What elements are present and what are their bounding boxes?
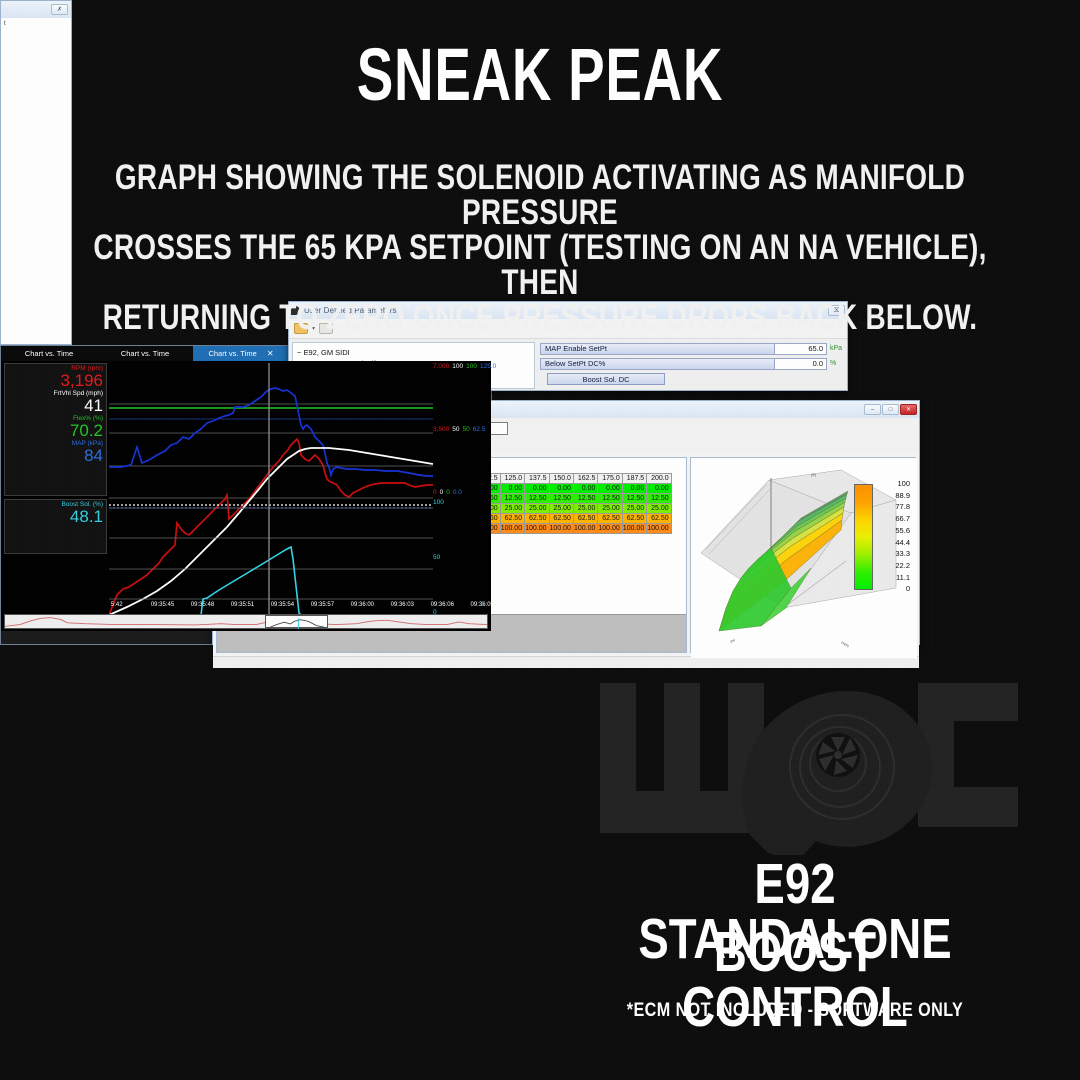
table-cell[interactable]: 25.00	[549, 504, 573, 514]
table-cell[interactable]: 12.50	[549, 494, 573, 504]
gauge-column: RPM (rpm) 3,196 FrtVhl Spd (mph) 41 Flex…	[4, 363, 107, 554]
parameter-unit: %	[827, 358, 843, 370]
axis-scale-top: 7,000100100125.0	[433, 363, 488, 371]
column-header[interactable]: 175.0	[598, 474, 622, 484]
tab-label: Chart vs. Time	[121, 349, 169, 358]
parameter-value-input[interactable]: 65.0	[775, 343, 827, 355]
column-header[interactable]: 200.0	[647, 474, 671, 484]
gauge-value-frtvhl-spd: 41	[8, 397, 103, 415]
gauge-group-upper: RPM (rpm) 3,196 FrtVhl Spd (mph) 41 Flex…	[4, 363, 107, 496]
time-tick-label: 09:35:45	[151, 602, 174, 608]
axis-scale-bottom: 0000.0	[433, 489, 488, 497]
chart-time-axis: 5:4209:35:4509:35:4809:35:5109:35:5409:3…	[109, 602, 486, 613]
axis-label-top: (%)	[811, 473, 816, 477]
axis-scale-value: 50	[452, 426, 459, 433]
table-cell[interactable]: 62.50	[525, 514, 549, 524]
axis-scale-value: 100	[452, 363, 463, 370]
background-window-content: t	[1, 18, 71, 27]
time-tick-label: 09:35:48	[191, 602, 214, 608]
subheading-line-1: GRAPH SHOWING THE SOLENOID ACTIVATING AS…	[68, 160, 1012, 230]
table-cell[interactable]: 62.50	[622, 514, 646, 524]
table-cell[interactable]: 0.00	[647, 484, 671, 494]
gauge-value-boost-sol: 48.1	[8, 508, 103, 526]
subheading-line-2: CROSSES THE 65 KPA SETPOINT (TESTING ON …	[68, 230, 1012, 300]
table-cell[interactable]: 25.00	[500, 504, 524, 514]
time-tick-label: 5:42	[111, 602, 123, 608]
tab-label: Chart vs. Time	[25, 349, 73, 358]
table-cell[interactable]: 100.00	[622, 524, 646, 534]
axis-scale-value: 50	[433, 554, 488, 561]
table-cell[interactable]: 100.00	[598, 524, 622, 534]
time-labels: 5:4209:35:4509:35:4809:35:5109:35:5409:3…	[109, 602, 486, 613]
gauge-group-lower: Boost Sol. (%) 48.1	[4, 499, 107, 554]
legend-tick-label: 22.2	[878, 560, 910, 572]
axis-scale-value: 3,500	[433, 426, 449, 433]
column-header[interactable]: 162.5	[573, 474, 597, 484]
scrubber-overview-trace	[5, 615, 487, 628]
table-cell[interactable]: 100.00	[525, 524, 549, 534]
color-legend-labels: 10088.977.866.755.644.433.322.211.10	[878, 478, 910, 595]
axis-scale-value: 100	[466, 363, 477, 370]
table-cell[interactable]: 25.00	[647, 504, 671, 514]
table-cell[interactable]: 62.50	[647, 514, 671, 524]
table-cell[interactable]: 100.00	[500, 524, 524, 534]
tab-label: Chart vs. Time	[208, 349, 256, 358]
tree-root-label: E92, GM SIDI	[303, 348, 349, 357]
time-tick-label: 09:35:51	[231, 602, 254, 608]
axis-scale-value: 100	[433, 499, 488, 506]
legend-tick-label: 100	[878, 478, 910, 490]
chart-plot-body[interactable]: RPM (rpm) 3,196 FrtVhl Spd (mph) 41 Flex…	[1, 361, 491, 631]
table-cell[interactable]: 62.50	[573, 514, 597, 524]
table-cell[interactable]: 100.00	[573, 524, 597, 534]
table-cell[interactable]: 0.00	[622, 484, 646, 494]
scrubber-window-handle[interactable]	[265, 615, 328, 628]
ecm-minimize-button[interactable]: –	[864, 404, 881, 415]
axis-scale-value: 0	[446, 489, 450, 496]
legend-tick-label: 66.7	[878, 513, 910, 525]
background-window-close-button[interactable]: ✗	[51, 4, 68, 15]
background-window[interactable]: ✗ t	[0, 0, 72, 345]
axis-scale-value: 62.5	[473, 426, 486, 433]
scrubber-window-trace	[266, 618, 327, 629]
wpc-watermark-logo	[600, 655, 1020, 855]
parameter-unit: kPa	[827, 343, 843, 355]
table-cell[interactable]: 0.00	[573, 484, 597, 494]
footer-note: *ECM NOT INCLUDED - SOFTWARE ONLY	[583, 1000, 1008, 1022]
cursor-time-label: 0	[481, 602, 484, 608]
legend-tick-label: 33.3	[878, 548, 910, 560]
subheading-line-3: RETURNING TO ZERO ONCE PRESSURE DROPS BA…	[68, 300, 1012, 335]
tab-close-icon[interactable]: ✕	[267, 349, 274, 358]
legend-tick-label: 0	[878, 583, 910, 595]
legend-tick-label: 55.6	[878, 525, 910, 537]
table-cell[interactable]: 62.50	[549, 514, 573, 524]
parameter-name: MAP Enable SetPt	[540, 343, 775, 355]
tab-chart-vs-time-3[interactable]: Chart vs. Time ✕	[193, 346, 289, 361]
axis-scale-value: 0	[433, 489, 437, 496]
time-tick-label: 09:36:06	[431, 602, 454, 608]
axis-scale-value: 0	[440, 489, 444, 496]
column-header[interactable]: 137.5	[525, 474, 549, 484]
parameter-row[interactable]: Below SetPt DC% 0.0 %	[540, 358, 843, 370]
tree-root-node[interactable]: − E92, GM SIDI	[297, 347, 534, 358]
chart-traces-area[interactable]	[109, 363, 431, 620]
legend-tick-label: 88.9	[878, 490, 910, 502]
ecm-3d-plot-pane[interactable]: (%) (mph) (%) 10088.977.866.755.644.433.…	[690, 457, 916, 653]
tree-expander-icon[interactable]: −	[297, 348, 301, 357]
subheading: GRAPH SHOWING THE SOLENOID ACTIVATING AS…	[68, 160, 1012, 335]
time-tick-label: 09:35:57	[311, 602, 334, 608]
boost-sol-dc-button[interactable]: Boost Sol. DC	[547, 373, 665, 385]
table-cell[interactable]: 0.00	[525, 484, 549, 494]
table-cell[interactable]: 12.50	[573, 494, 597, 504]
axis-scale-value: 0.0	[453, 489, 462, 496]
ecm-close-button[interactable]: ✕	[900, 404, 917, 415]
parameter-value-input[interactable]: 0.0	[775, 358, 827, 370]
gauge-value-flex: 70.2	[8, 422, 103, 440]
table-cell[interactable]: 12.50	[500, 494, 524, 504]
udp-parameter-list: MAP Enable SetPt 65.0 kPa Below SetPt DC…	[538, 339, 847, 392]
legend-tick-label: 44.4	[878, 537, 910, 549]
gauge-value-rpm: 3,196	[8, 372, 103, 390]
chart-vs-time-window[interactable]: Chart vs. Time Chart vs. Time Chart vs. …	[0, 345, 492, 645]
table-cell[interactable]: 25.00	[622, 504, 646, 514]
tab-chart-vs-time-1[interactable]: Chart vs. Time	[1, 346, 97, 361]
table-cell[interactable]: 25.00	[598, 504, 622, 514]
column-header[interactable]: 187.5	[622, 474, 646, 484]
page-title: SNEAK PEAK	[140, 32, 939, 117]
parameter-name: Below SetPt DC%	[540, 358, 775, 370]
table-cell[interactable]: 12.50	[622, 494, 646, 504]
table-cell[interactable]: 62.50	[500, 514, 524, 524]
time-tick-label: 09:36:03	[391, 602, 414, 608]
background-window-titlebar[interactable]: ✗	[1, 1, 71, 18]
ecm-maximize-button[interactable]: □	[882, 404, 899, 415]
parameter-row[interactable]: MAP Enable SetPt 65.0 kPa	[540, 343, 843, 355]
gauge-value-map: 84	[8, 447, 103, 465]
column-header[interactable]: 150.0	[549, 474, 573, 484]
time-tick-label: 09:35:54	[271, 602, 294, 608]
table-cell[interactable]: 0.00	[598, 484, 622, 494]
axis-scale-value: 50	[463, 426, 470, 433]
table-cell[interactable]: 100.00	[647, 524, 671, 534]
legend-tick-label: 77.8	[878, 501, 910, 513]
table-cell[interactable]: 12.50	[647, 494, 671, 504]
table-cell[interactable]: 62.50	[598, 514, 622, 524]
table-cell[interactable]: 25.00	[573, 504, 597, 514]
axis-scale-value: 7,000	[433, 363, 449, 370]
table-cell[interactable]: 100.00	[549, 524, 573, 534]
axis-scale-middle: 3,500505062.5	[433, 426, 488, 434]
chart-svg[interactable]	[109, 363, 433, 615]
table-cell[interactable]: 12.50	[598, 494, 622, 504]
tab-chart-vs-time-2[interactable]: Chart vs. Time	[97, 346, 193, 361]
table-cell[interactable]: 0.00	[500, 484, 524, 494]
axis-scale-value: 125.0	[480, 363, 496, 370]
axis-scale-lower: 100500	[433, 499, 488, 616]
column-header[interactable]: 125.0	[500, 474, 524, 484]
table-cell[interactable]: 12.50	[525, 494, 549, 504]
legend-tick-label: 11.1	[878, 572, 910, 584]
chart-scrubber[interactable]	[4, 614, 488, 629]
table-cell[interactable]: 0.00	[549, 484, 573, 494]
table-cell[interactable]: 25.00	[525, 504, 549, 514]
time-tick-label: 09:36:00	[351, 602, 374, 608]
color-legend-gradient	[854, 484, 873, 590]
chart-right-axis: 7,000100100125.0 3,500505062.5 0000.0 10…	[433, 363, 488, 616]
